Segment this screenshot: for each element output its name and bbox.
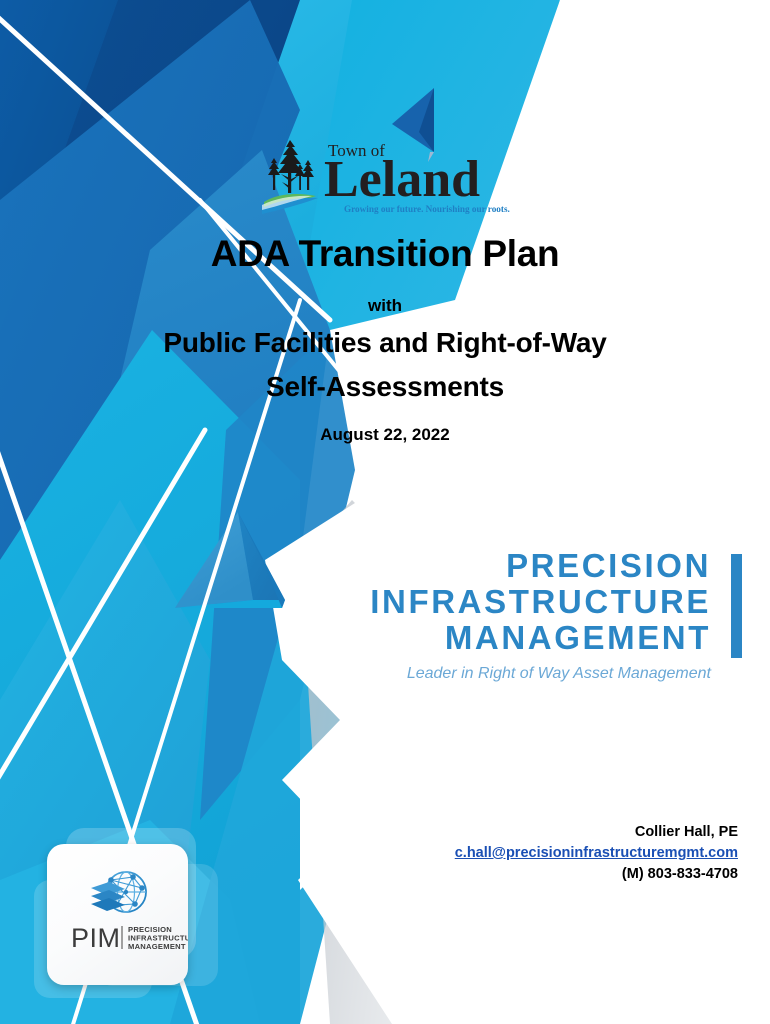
document-date: August 22, 2022 bbox=[0, 425, 770, 445]
contact-name: Collier Hall, PE bbox=[455, 822, 738, 843]
wordmark-line-precision: PRECISION bbox=[370, 548, 711, 584]
contact-block: Collier Hall, PE c.hall@precisioninfrast… bbox=[455, 822, 738, 885]
title-connector: with bbox=[0, 296, 770, 316]
town-of-leland-logo: Town of Leland Growing our future. Nouri… bbox=[262, 134, 510, 218]
stacked-layers bbox=[91, 882, 125, 911]
contact-phone: (M) 803-833-4708 bbox=[455, 864, 738, 885]
wordmark-line-management: MANAGEMENT bbox=[370, 620, 711, 656]
badge-abbreviation: PIM bbox=[71, 923, 121, 953]
leland-wordmark: Leland bbox=[324, 151, 480, 208]
document-cover-page: Town of Leland Growing our future. Nouri… bbox=[0, 0, 770, 1024]
pine-tree-icon bbox=[268, 140, 314, 193]
wordmark-accent-bar bbox=[731, 554, 742, 658]
wordmark-line-infrastructure: INFRASTRUCTURE bbox=[370, 584, 711, 620]
badge-line-management: MANAGEMENT bbox=[128, 942, 186, 951]
wordmark-lines: PRECISION INFRASTRUCTURE MANAGEMENT bbox=[370, 548, 742, 656]
firm-wordmark: PRECISION INFRASTRUCTURE MANAGEMENT Lead… bbox=[370, 548, 742, 683]
network-globe-layers-icon bbox=[91, 872, 146, 912]
page-title: ADA Transition Plan bbox=[0, 233, 770, 275]
leland-tagline: Growing our future. Nourishing our roots… bbox=[344, 204, 510, 214]
pim-badge-graphic: PIM PRECISION INFRASTRUCTURE MANAGEMENT bbox=[47, 844, 188, 985]
pim-badge-card: PIM PRECISION INFRASTRUCTURE MANAGEMENT bbox=[47, 844, 188, 985]
firm-tagline: Leader in Right of Way Asset Management bbox=[370, 665, 742, 683]
swoosh-white bbox=[262, 196, 312, 210]
contact-email-link[interactable]: c.hall@precisioninfrastructuremgmt.com bbox=[455, 843, 738, 864]
page-subtitle-line-2: Self-Assessments bbox=[0, 371, 770, 403]
page-subtitle-line-1: Public Facilities and Right-of-Way bbox=[0, 327, 770, 359]
